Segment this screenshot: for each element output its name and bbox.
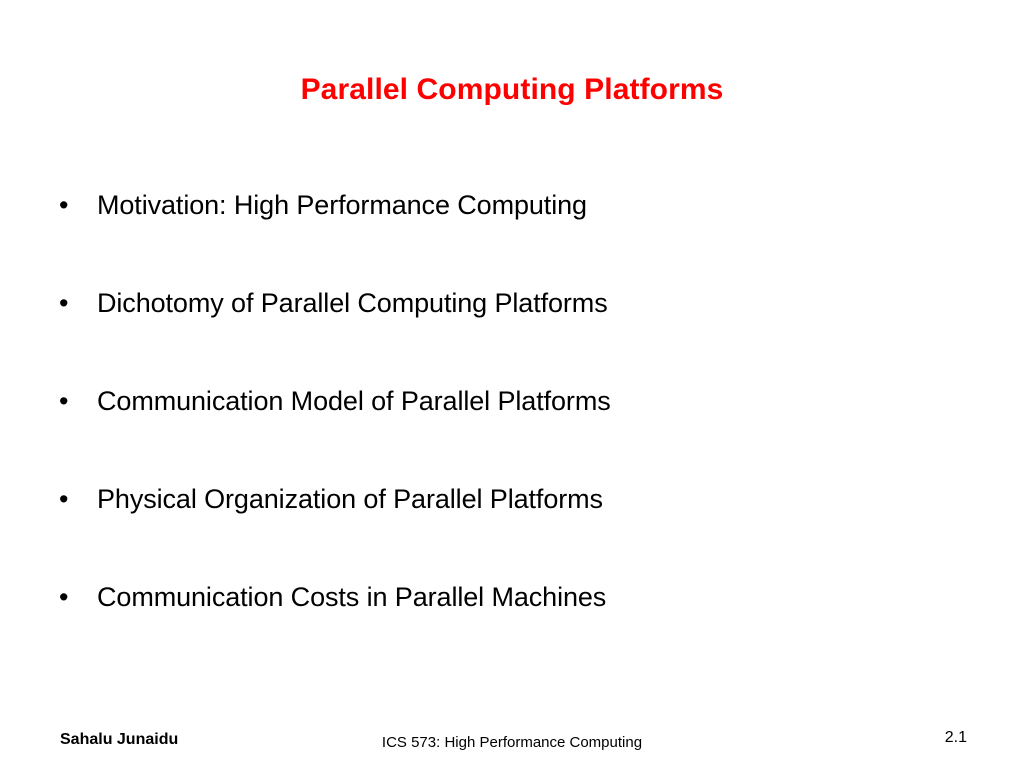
bullet-point-icon: • [56, 578, 97, 616]
list-item: • Communication Model of Parallel Platfo… [56, 382, 956, 480]
list-item: • Motivation: High Performance Computing [56, 186, 956, 284]
page-title: Parallel Computing Platforms [0, 72, 1024, 108]
bullet-list: • Motivation: High Performance Computing… [56, 186, 956, 676]
list-item-label: Dichotomy of Parallel Computing Platform… [97, 284, 608, 322]
footer-course-title: ICS 573: High Performance Computing [0, 734, 1024, 751]
list-item: • Physical Organization of Parallel Plat… [56, 480, 956, 578]
list-item-label: Physical Organization of Parallel Platfo… [97, 480, 603, 518]
bullet-point-icon: • [56, 382, 97, 420]
presentation-slide: Parallel Computing Platforms • Motivatio… [0, 0, 1024, 768]
bullet-point-icon: • [56, 480, 97, 518]
list-item: • Dichotomy of Parallel Computing Platfo… [56, 284, 956, 382]
slide-footer: Sahalu Junaidu ICS 573: High Performance… [0, 725, 1024, 768]
list-item-label: Motivation: High Performance Computing [97, 186, 587, 224]
slide-number: 2.1 [945, 729, 967, 747]
list-item-label: Communication Model of Parallel Platform… [97, 382, 611, 420]
bullet-point-icon: • [56, 284, 97, 322]
list-item: • Communication Costs in Parallel Machin… [56, 578, 956, 676]
bullet-point-icon: • [56, 186, 97, 224]
list-item-label: Communication Costs in Parallel Machines [97, 578, 606, 616]
